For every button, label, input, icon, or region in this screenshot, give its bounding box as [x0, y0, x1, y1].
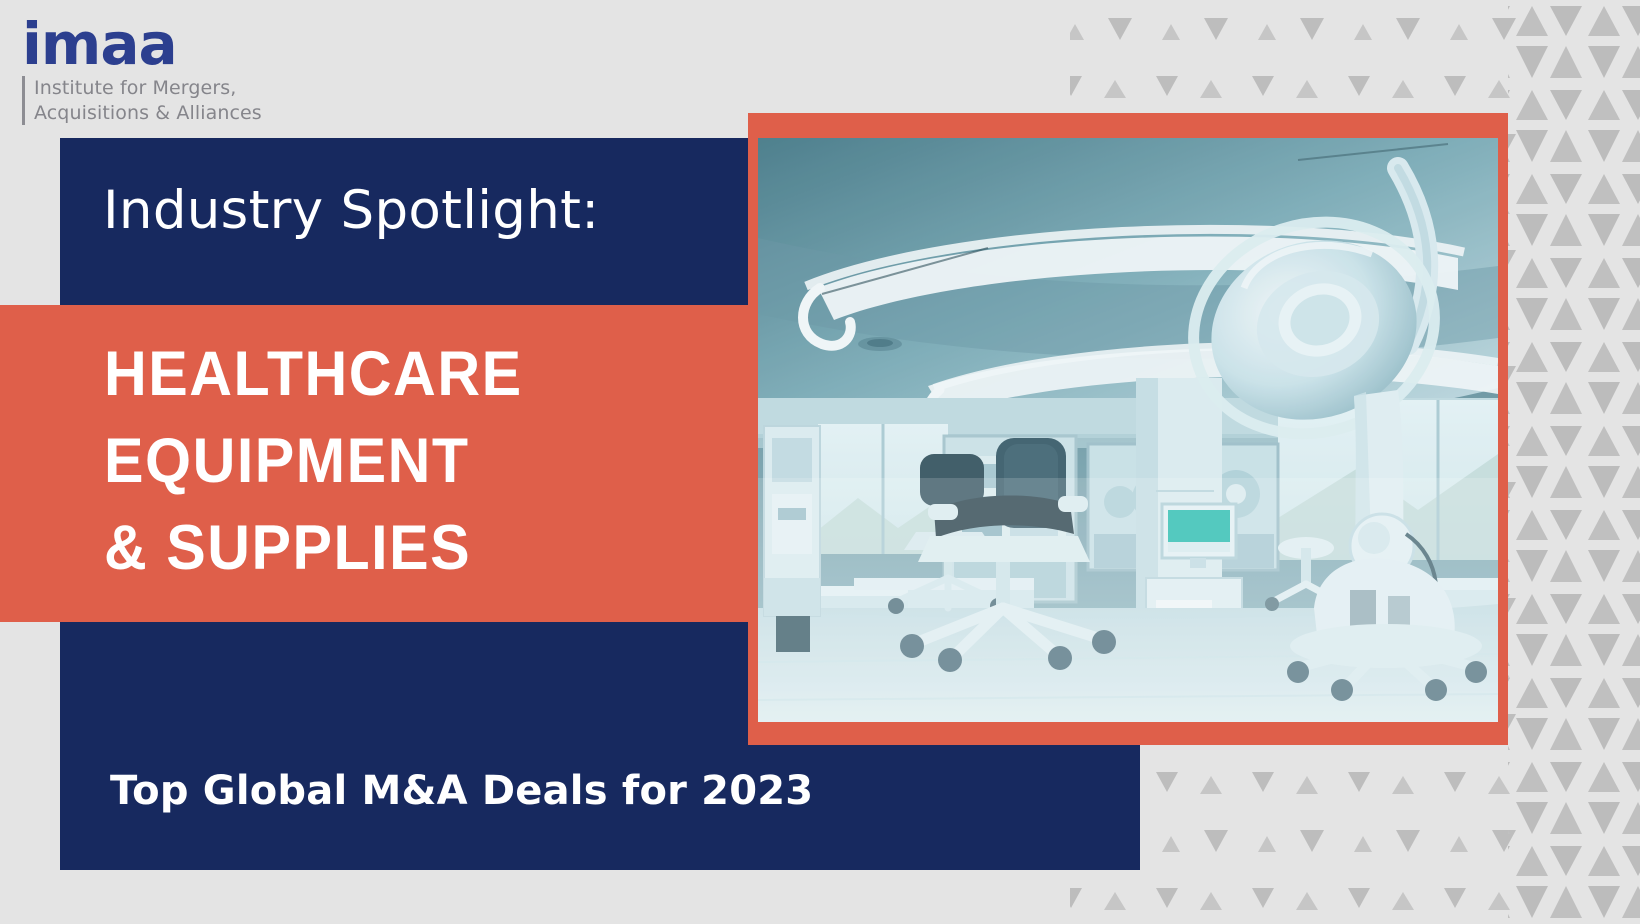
slide-canvas: imaa Institute for Mergers, Acquisitions…	[0, 0, 1640, 924]
page-title: HEALTHCARE EQUIPMENT & SUPPLIES	[104, 331, 523, 592]
logo-wordmark: imaa	[22, 18, 177, 71]
subtitle-text: Top Global M&A Deals for 2023	[110, 768, 813, 814]
logo-subtitle-group: Institute for Mergers, Acquisitions & Al…	[22, 76, 262, 125]
imaa-logo[interactable]: imaa Institute for Mergers, Acquisitions…	[22, 18, 262, 125]
hero-photo	[758, 138, 1498, 722]
logo-subtitle: Institute for Mergers, Acquisitions & Al…	[34, 76, 262, 125]
logo-divider-rule	[22, 76, 25, 125]
kicker-text: Industry Spotlight:	[103, 180, 599, 241]
